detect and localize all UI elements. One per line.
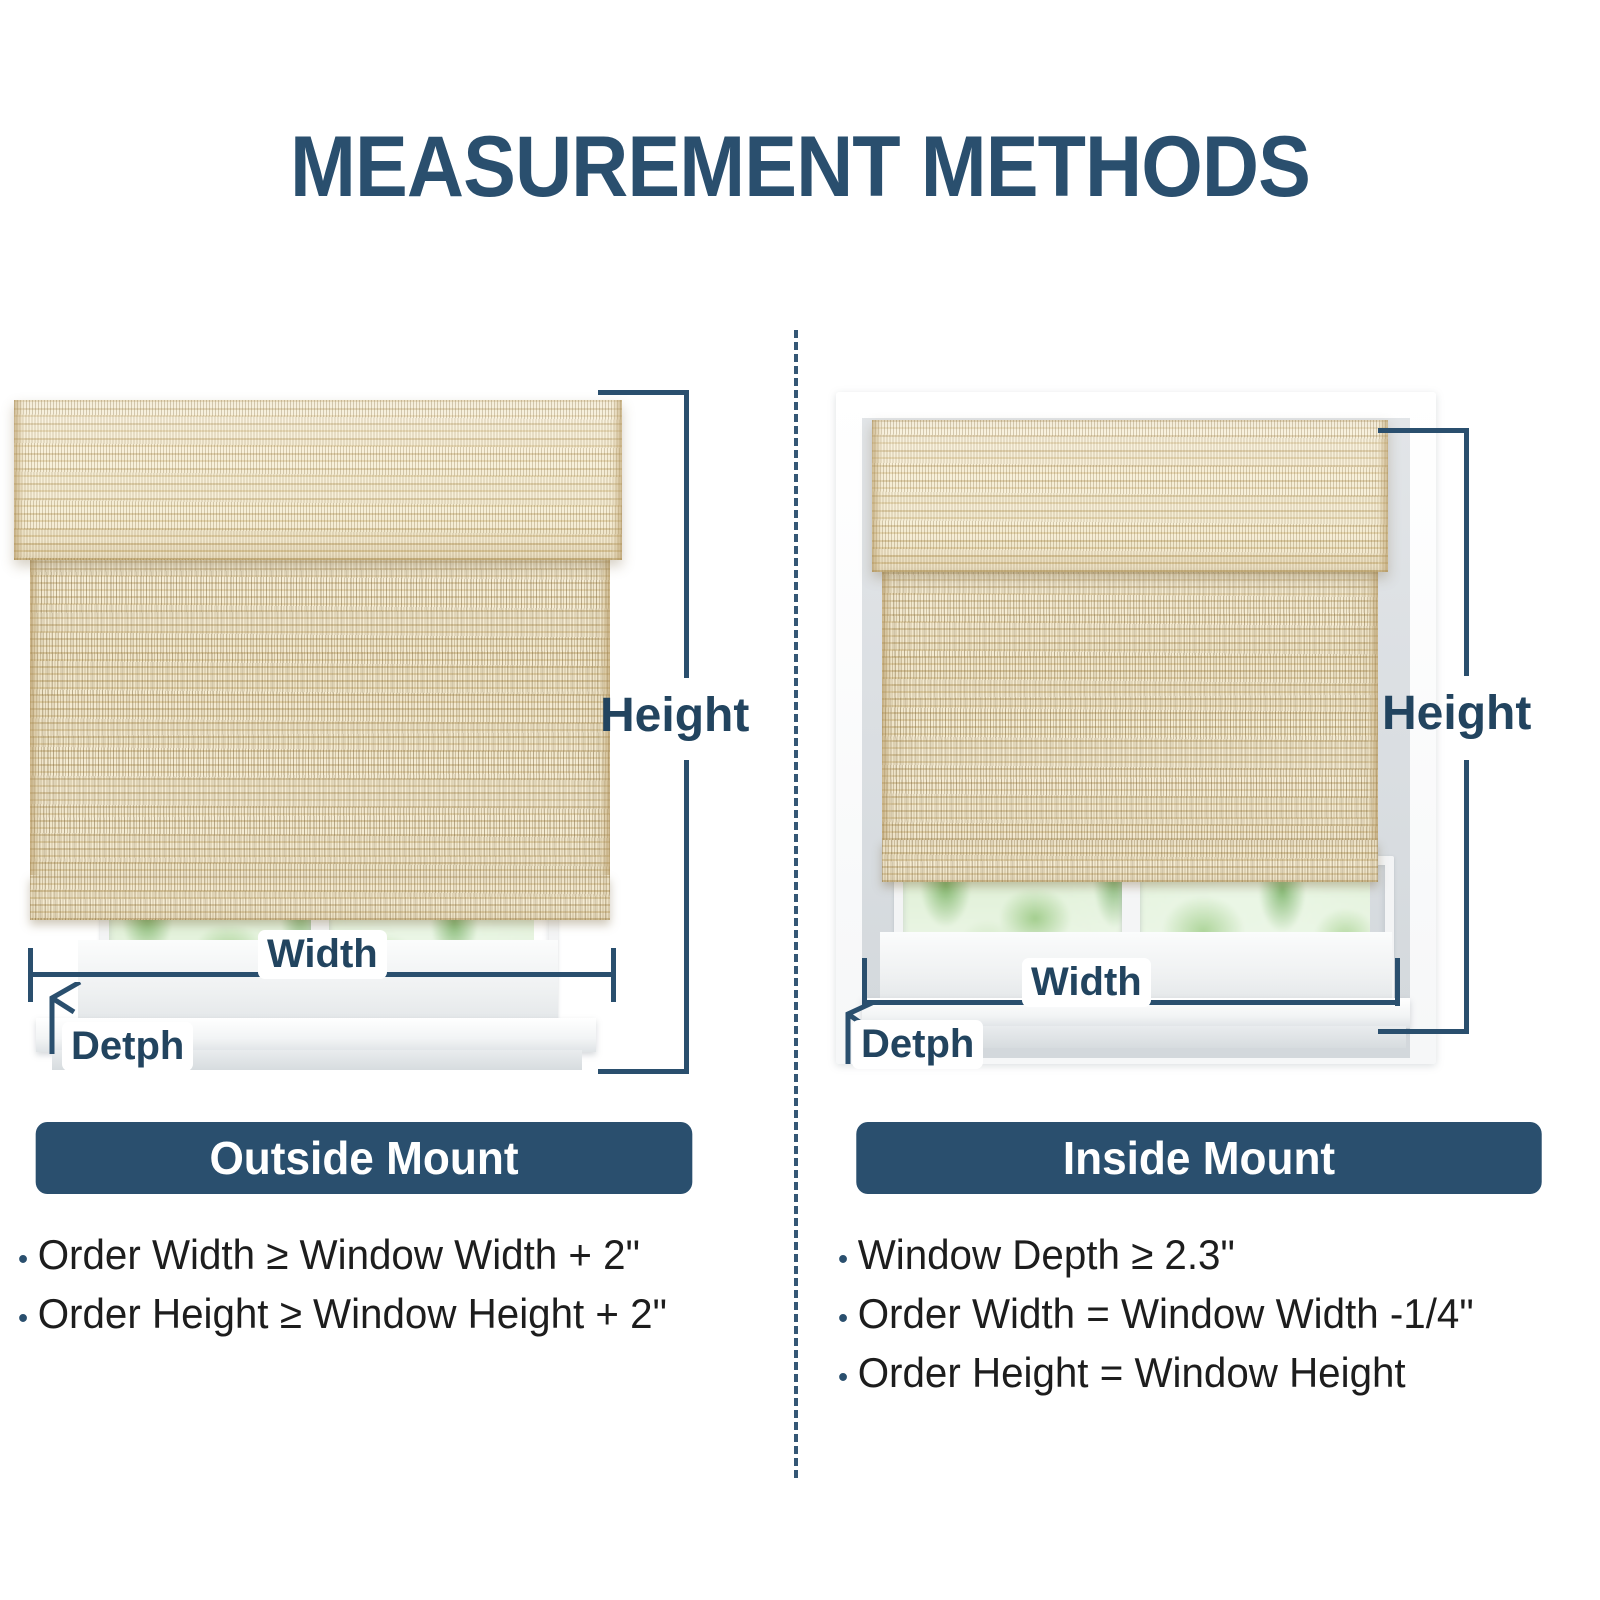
bullet-text: Order Width ≥ Window Width + 2" — [38, 1228, 640, 1282]
height-tick-bottom — [1378, 1029, 1468, 1034]
height-line — [684, 390, 689, 678]
width-tick-left — [862, 958, 867, 1006]
shade-valance — [14, 400, 622, 560]
width-tick-left — [28, 948, 33, 1002]
width-tick-right — [1395, 958, 1400, 1006]
shade-left-edge — [30, 532, 40, 920]
height-line-lower — [684, 760, 689, 1074]
bullet-text: Order Height ≥ Window Height + 2" — [38, 1287, 667, 1341]
bullet-item: • Order Height = Window Height — [838, 1346, 1568, 1405]
bullet-marker: • — [18, 1233, 28, 1287]
shade-body — [30, 532, 610, 920]
width-tick-right — [611, 948, 616, 1002]
outside-mount-panel: Height Width Detph Outside Mount • Order… — [0, 0, 790, 1600]
bullet-text: Order Width = Window Width -1/4" — [858, 1287, 1474, 1341]
outside-depth-label: Detph — [62, 1022, 193, 1071]
inside-depth-label: Detph — [852, 1020, 983, 1069]
shade-valance — [872, 420, 1388, 572]
inside-mount-shade — [872, 420, 1388, 882]
inside-width-label: Width — [1022, 958, 1151, 1007]
height-tick-bottom — [598, 1069, 688, 1074]
shade-bottom-rail — [30, 875, 610, 920]
height-tick-top-cap — [598, 390, 603, 394]
shade-bottom-rail — [882, 840, 1378, 882]
inside-height-label: Height — [1382, 686, 1531, 741]
bullet-marker: • — [838, 1351, 848, 1405]
inside-mount-bullets: • Window Depth ≥ 2.3" • Order Width = Wi… — [838, 1228, 1598, 1405]
shade-right-edge — [1368, 550, 1378, 882]
outside-width-label: Width — [258, 930, 387, 979]
valance-right-edge — [612, 400, 622, 560]
bullet-item: • Order Width ≥ Window Width + 2" — [18, 1228, 748, 1287]
shade-left-edge — [882, 550, 892, 882]
bullet-marker: • — [18, 1292, 28, 1346]
bullet-item: • Window Depth ≥ 2.3" — [838, 1228, 1568, 1287]
valance-right-edge — [1378, 420, 1388, 572]
bullet-text: Window Depth ≥ 2.3" — [858, 1228, 1235, 1282]
outside-mount-banner[interactable]: Outside Mount — [36, 1122, 693, 1194]
bullet-item: • Order Width = Window Width -1/4" — [838, 1287, 1568, 1346]
outside-mount-bullets: • Order Width ≥ Window Width + 2" • Orde… — [18, 1228, 778, 1346]
valance-left-edge — [872, 420, 882, 572]
valance-left-edge — [14, 400, 24, 560]
inside-mount-panel: Height Width Detph Inside Mount • Window… — [800, 0, 1600, 1600]
bullet-text: Order Height = Window Height — [858, 1346, 1406, 1400]
bullet-item: • Order Height ≥ Window Height + 2" — [18, 1287, 748, 1346]
outside-mount-shade — [14, 400, 622, 920]
height-line — [1464, 428, 1469, 676]
outside-height-label: Height — [600, 688, 749, 743]
bullet-marker: • — [838, 1233, 848, 1287]
bullet-marker: • — [838, 1292, 848, 1346]
height-line-lower — [1464, 760, 1469, 1034]
height-tick-top — [1378, 428, 1468, 433]
height-tick-top — [598, 390, 688, 395]
inside-mount-banner[interactable]: Inside Mount — [856, 1122, 1541, 1194]
shade-body — [882, 550, 1378, 882]
panel-divider — [794, 330, 798, 1478]
